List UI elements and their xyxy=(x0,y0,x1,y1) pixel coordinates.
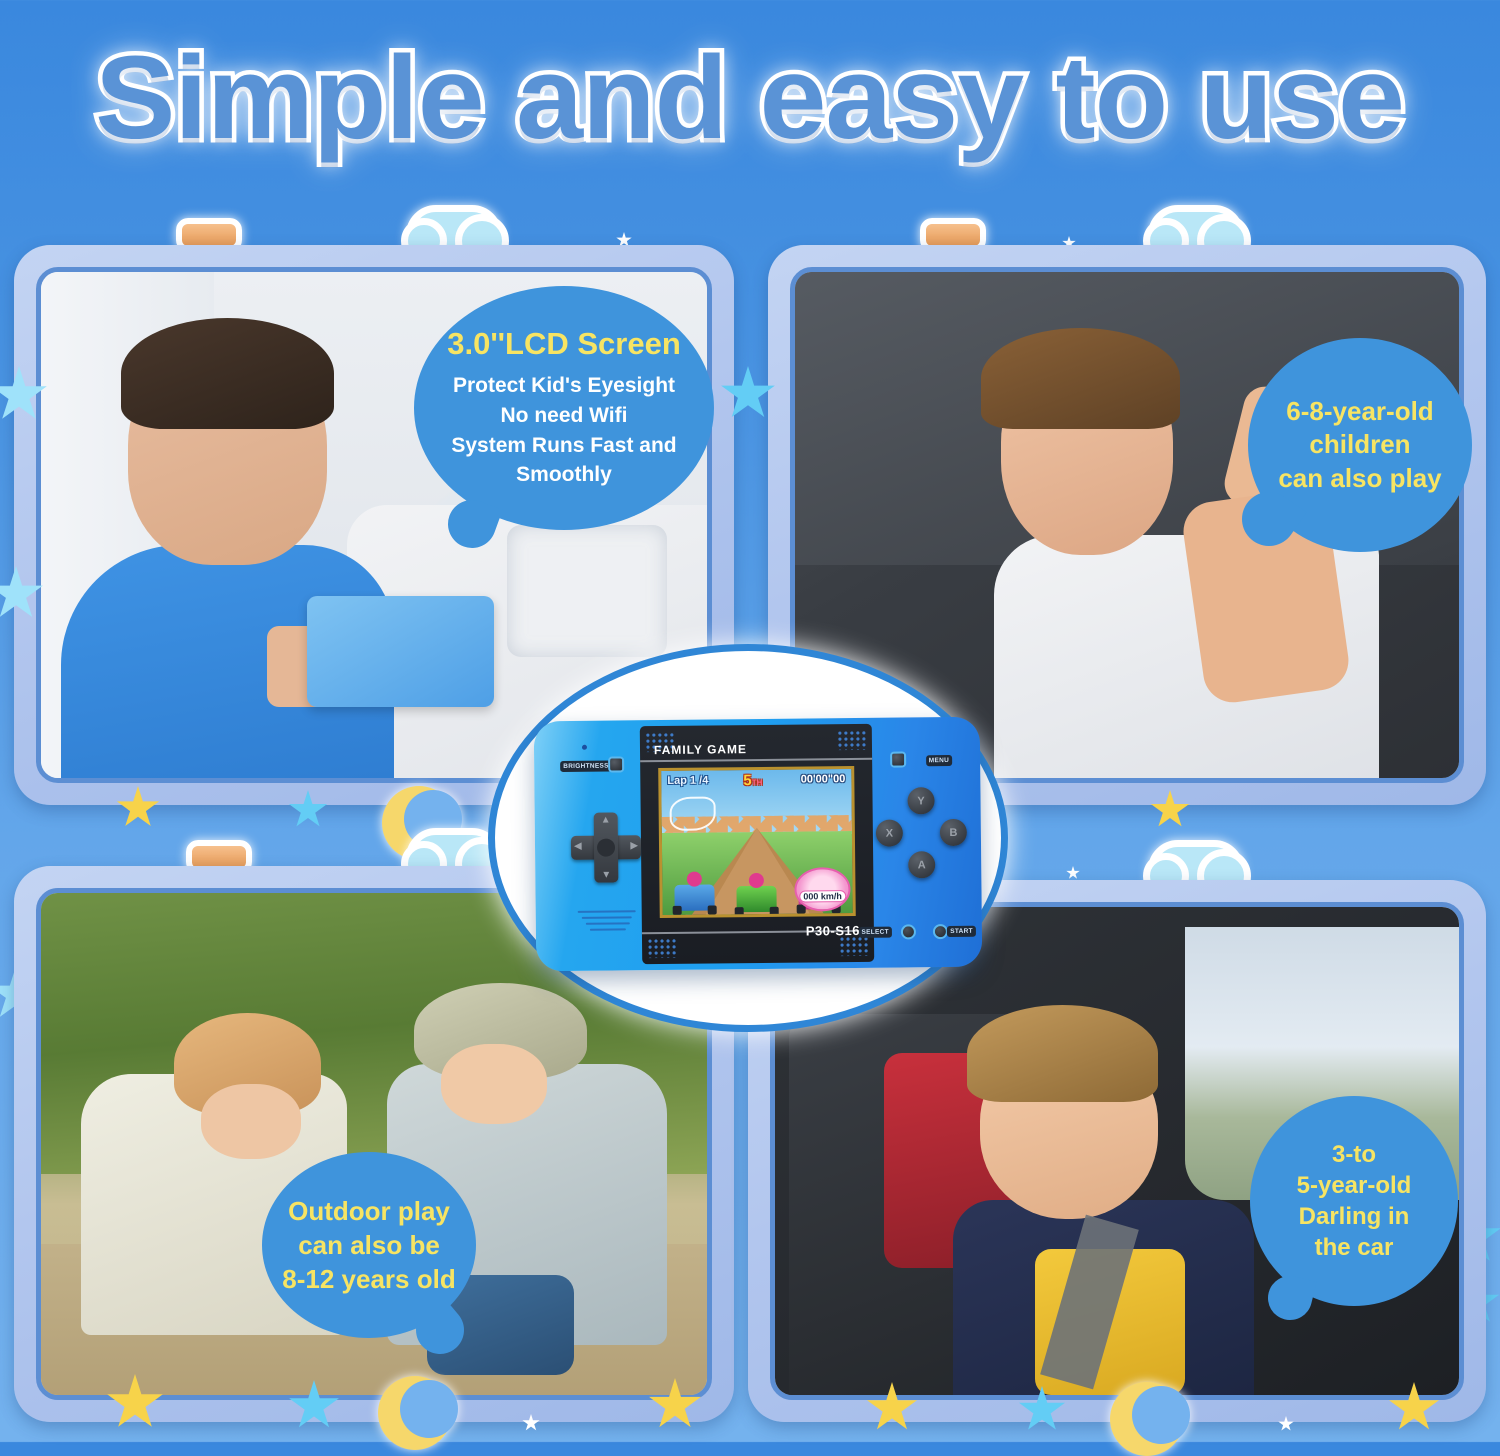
kart-tyre xyxy=(770,907,779,916)
bubble-line: No need Wifi xyxy=(501,401,628,431)
dot-grid-decor xyxy=(647,938,677,958)
bubble-line: Darling in xyxy=(1299,1201,1410,1232)
bubble-lcd-screen: 3.0''LCD Screen Protect Kid's Eyesight N… xyxy=(414,286,714,530)
bubble-line: 5-year-old xyxy=(1297,1170,1412,1201)
handheld-game-console[interactable]: BRIGHTNESS ▲ ▼ ◀ ▶ FAMILY GAME P30-S16 xyxy=(534,717,983,972)
bubble-line: System Runs Fast and Smoothly xyxy=(432,431,696,491)
dpad-left-icon[interactable]: ◀ xyxy=(574,841,582,852)
brand-label: FAMILY GAME xyxy=(654,742,747,757)
button-a[interactable]: A xyxy=(908,851,935,878)
select-button[interactable] xyxy=(901,924,916,939)
product-highlight-oval: BRIGHTNESS ▲ ▼ ◀ ▶ FAMILY GAME P30-S16 xyxy=(488,644,1008,1032)
game-hud: Lap 1 /4 5TH 00'00"00 xyxy=(661,772,851,796)
game-kart xyxy=(736,886,776,912)
bubble-line: 6-8-year-old xyxy=(1286,395,1433,428)
kart-tyre xyxy=(708,905,717,914)
brightness-label: BRIGHTNESS xyxy=(560,761,612,773)
dpad-up-icon[interactable]: ▲ xyxy=(601,815,611,826)
photo-boy-hair xyxy=(981,328,1180,429)
bubble-outdoor-play: Outdoor play can also be 8-12 years old xyxy=(262,1152,476,1338)
button-y[interactable]: Y xyxy=(907,787,934,814)
game-kart xyxy=(674,884,714,910)
bubble-line: Protect Kid's Eyesight xyxy=(453,371,675,401)
speaker-grille-icon xyxy=(578,906,636,937)
photo-pillow xyxy=(507,525,667,657)
bubble-line: 8-12 years old xyxy=(282,1262,455,1296)
bubble-line: can also be xyxy=(298,1228,440,1262)
photo-boy-hair xyxy=(121,318,334,429)
menu-button[interactable] xyxy=(890,751,906,767)
button-x[interactable]: X xyxy=(876,819,903,846)
photo-boy-hair xyxy=(967,1005,1159,1103)
dot-grid-decor xyxy=(837,730,867,750)
hud-timer: 00'00"00 xyxy=(801,773,846,785)
bubble-line: Outdoor play xyxy=(288,1194,450,1228)
dpad-down-icon[interactable]: ▼ xyxy=(601,870,611,881)
kart-driver xyxy=(749,873,764,888)
dot-grid-decor xyxy=(839,936,869,956)
photo-handheld-console xyxy=(307,596,493,707)
brightness-button[interactable] xyxy=(608,756,624,772)
hud-position: 5TH xyxy=(743,772,762,789)
photo-child-face xyxy=(441,1044,548,1124)
lcd-screen: Lap 1 /4 5TH 00'00"00 xyxy=(658,766,856,918)
photo-child-face xyxy=(201,1084,301,1159)
kart-tyre xyxy=(735,907,744,916)
moon-icon xyxy=(1110,1382,1184,1456)
page-header: Simple and easy to use xyxy=(0,34,1500,162)
bubble-line: 3-to xyxy=(1332,1139,1376,1170)
dpad-right-icon[interactable]: ▶ xyxy=(630,840,638,851)
kart-tyre xyxy=(673,906,682,915)
start-label: START xyxy=(947,926,976,937)
bubble-heading: 3.0''LCD Screen xyxy=(447,326,681,362)
power-led-icon xyxy=(582,745,587,750)
select-label: SELECT xyxy=(858,927,892,938)
dpad-center[interactable] xyxy=(597,838,615,856)
button-b[interactable]: B xyxy=(940,819,967,846)
faceplate-divider xyxy=(640,758,872,762)
console-faceplate: FAMILY GAME P30-S16 Lap 1 /4 5TH 00'00"0… xyxy=(640,724,874,964)
start-button[interactable] xyxy=(933,924,948,939)
speed-value: 000 km/h xyxy=(799,890,846,902)
star-icon xyxy=(1066,866,1080,880)
dpad-control[interactable]: ▲ ▼ ◀ ▶ xyxy=(571,812,642,883)
hud-lap: Lap 1 /4 xyxy=(667,775,708,787)
moon-icon xyxy=(378,1376,452,1450)
kart-driver xyxy=(687,872,702,887)
model-label: P30-S16 xyxy=(806,923,860,939)
bubble-line: the car xyxy=(1315,1232,1394,1263)
bubble-age-6-8: 6-8-year-old children can also play xyxy=(1248,338,1472,552)
page-title: Simple and easy to use xyxy=(96,39,1405,157)
bubble-line: children xyxy=(1309,428,1410,461)
bubble-age-3-5: 3-to 5-year-old Darling in the car xyxy=(1250,1096,1458,1306)
bubble-line: can also play xyxy=(1278,462,1441,495)
menu-label: MENU xyxy=(926,755,952,766)
